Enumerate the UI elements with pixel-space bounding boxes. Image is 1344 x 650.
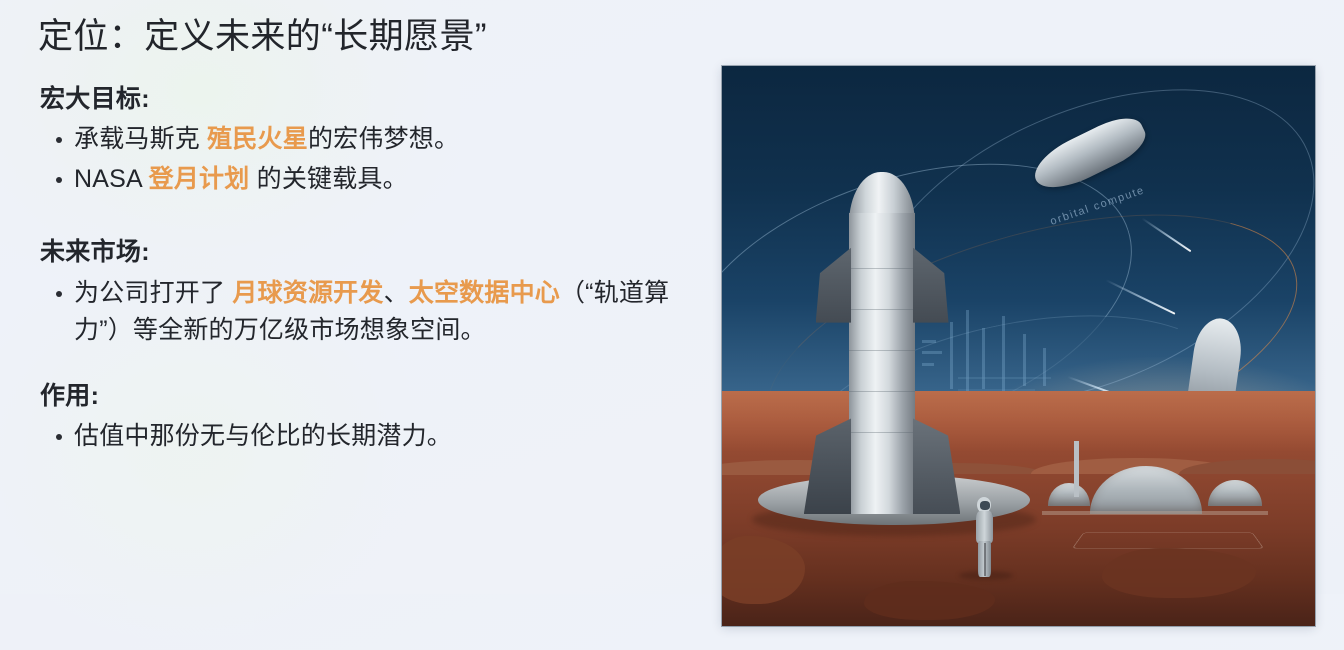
bullet-text-part: 为公司打开了: [74, 279, 232, 307]
bullet-text-part: 、: [384, 279, 409, 307]
hull-seam: [849, 268, 915, 269]
section-future-market: 未来市场: 为公司打开了 月球资源开发、太空数据中心（“轨道算力”）等全新的万亿…: [38, 236, 710, 350]
list-item: 为公司打开了 月球资源开发、太空数据中心（“轨道算力”）等全新的万亿级市场想象空…: [38, 275, 710, 350]
hull-seam: [849, 350, 915, 351]
section-heading: 作用:: [40, 380, 710, 413]
hull-seam: [849, 432, 915, 433]
section-grand-goal: 宏大目标: 承载马斯克 殖民火星的宏伟梦想。 NASA 登月计划 的关键载具。: [38, 83, 710, 199]
base-groundline: [1042, 511, 1267, 514]
main-starship: [823, 172, 942, 514]
slide-root: 定位：定义未来的“长期愿景” 宏大目标: 承载马斯克 殖民火星的宏伟梦想。 NA…: [0, 0, 1344, 594]
astronaut: [971, 497, 998, 575]
bullet-list: 为公司打开了 月球资源开发、太空数据中心（“轨道算力”）等全新的万亿级市场想象空…: [38, 275, 710, 350]
foreground-rock: [1102, 548, 1256, 598]
hull-seam: [849, 309, 915, 310]
astronaut-visor: [980, 501, 990, 510]
bullet-text-part: 估值中那份无与伦比的长期潜力。: [74, 422, 452, 450]
bullet-list: 估值中那份无与伦比的长期潜力。: [38, 418, 710, 456]
bullet-highlight-part: 殖民火星: [207, 125, 308, 153]
bullet-list: 承载马斯克 殖民火星的宏伟梦想。 NASA 登月计划 的关键载具。: [38, 121, 710, 198]
section-heading: 未来市场:: [40, 236, 710, 269]
bullet-text-part: NASA: [74, 165, 149, 193]
astronaut-leg-split: [984, 543, 986, 576]
section-spacer: [38, 364, 710, 380]
bullet-highlight-part: 太空数据中心: [409, 279, 560, 307]
bullet-dot-icon: [56, 177, 62, 183]
landing-pathway: [1072, 533, 1264, 549]
bullet-dot-icon: [56, 137, 62, 143]
bullet-text-part: 的关键载具。: [249, 165, 407, 193]
comms-tower: [1074, 441, 1079, 497]
bullet-highlight-part: 月球资源开发: [232, 279, 383, 307]
page-title: 定位：定义未来的“长期愿景”: [38, 16, 710, 59]
list-item: NASA 登月计划 的关键载具。: [38, 161, 710, 199]
hull-seam: [849, 391, 915, 392]
starship-mars-illustration: orbital compute: [722, 66, 1315, 626]
list-item: 承载马斯克 殖民火星的宏伟梦想。: [38, 121, 710, 159]
list-item: 估值中那份无与伦比的长期潜力。: [38, 418, 710, 456]
bullet-highlight-part: 登月计划: [149, 165, 250, 193]
text-column: 定位：定义未来的“长期愿景” 宏大目标: 承载马斯克 殖民火星的宏伟梦想。 NA…: [0, 0, 710, 594]
foreground-rock: [864, 581, 994, 620]
section-role: 作用: 估值中那份无与伦比的长期潜力。: [38, 380, 710, 456]
section-heading: 宏大目标:: [40, 83, 710, 116]
bullet-text-part: 承载马斯克: [74, 125, 207, 153]
bullet-dot-icon: [56, 434, 62, 440]
bullet-dot-icon: [56, 291, 62, 297]
astronaut-torso: [976, 511, 993, 542]
bullet-text-part: 的宏伟梦想。: [308, 125, 459, 153]
starship-body: [849, 213, 915, 514]
section-spacer: [38, 212, 710, 236]
